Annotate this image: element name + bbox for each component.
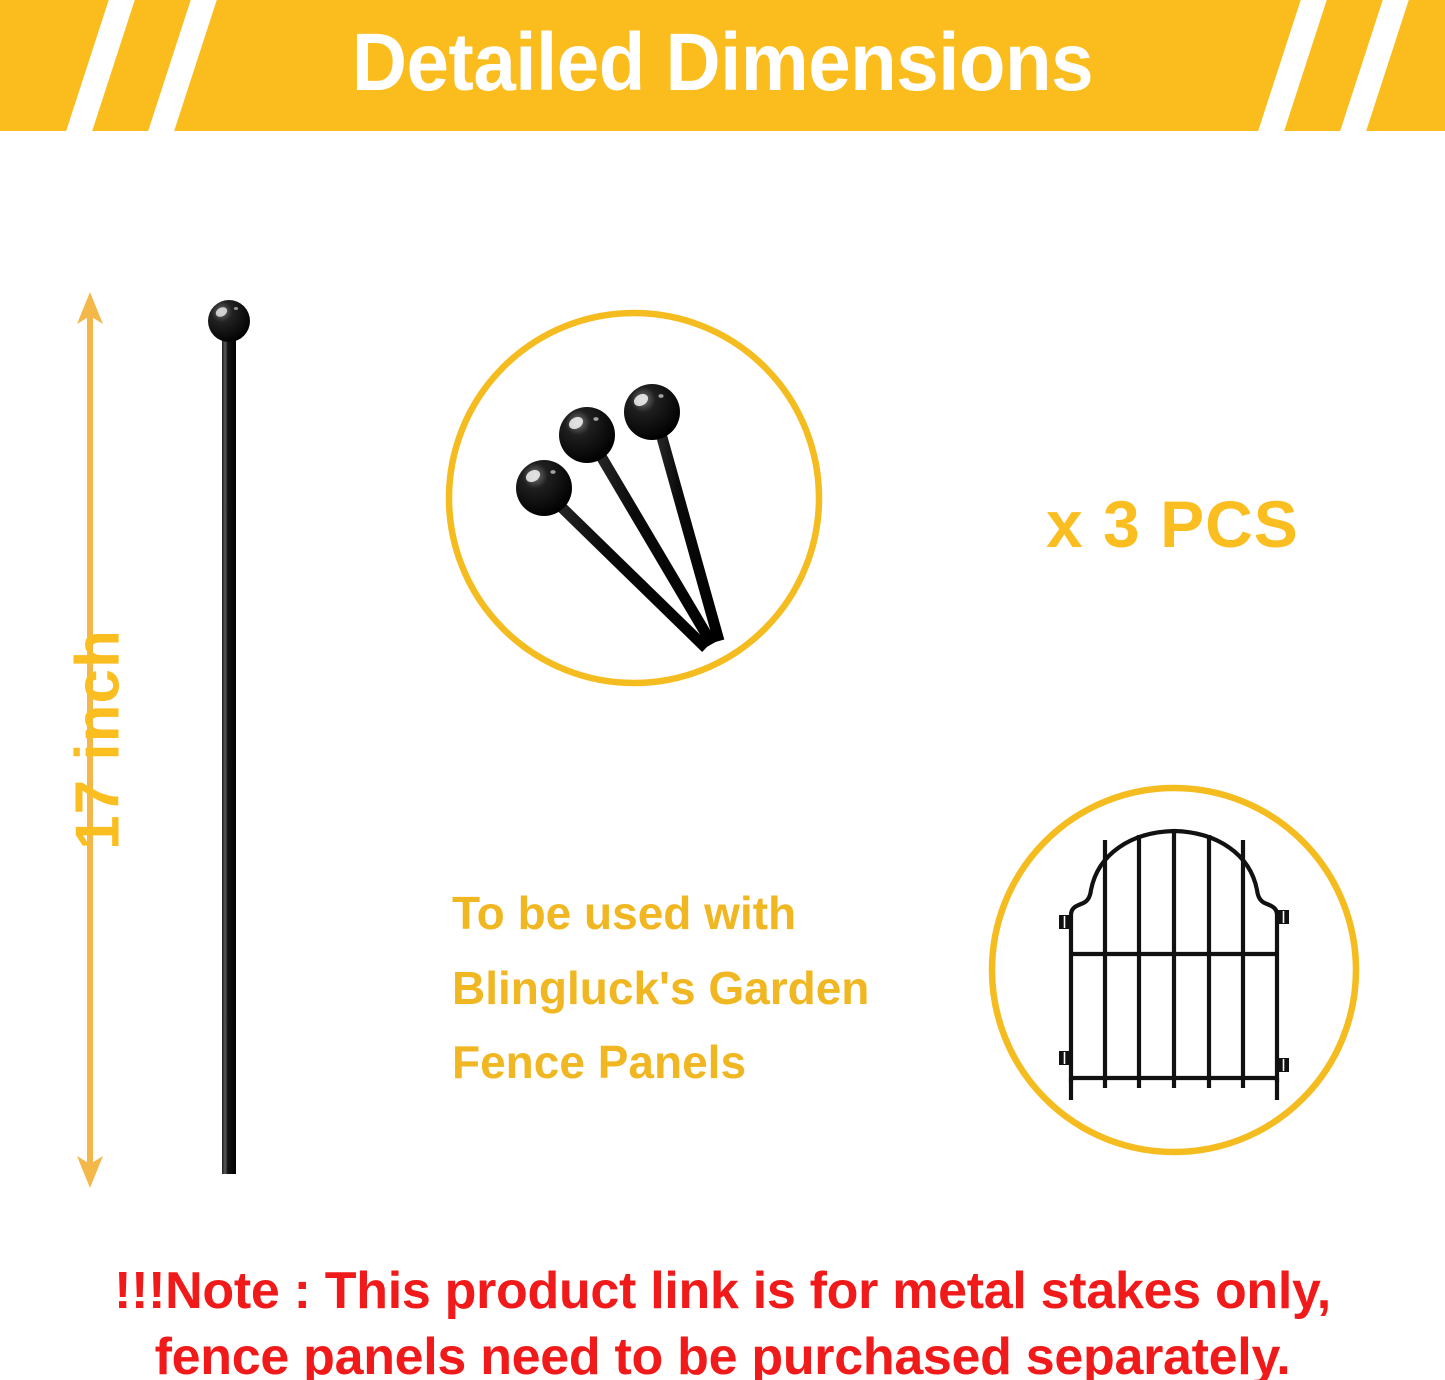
infographic-page: Detailed Dimensions 17 inch [0, 0, 1445, 1380]
usage-note-line-2: Blingluck's Garden [452, 951, 972, 1026]
usage-note-line-3: Fence Panels [452, 1025, 972, 1100]
quantity-label: x 3 PCS [1046, 486, 1299, 562]
measurement-label: 17 inch [63, 490, 134, 990]
usage-note-line-1: To be used with [452, 876, 972, 951]
bottom-note: !!!Note : This product link is for metal… [0, 1258, 1445, 1380]
three-stakes-circle [444, 308, 824, 688]
single-stake-illustration [190, 290, 270, 1190]
bottom-note-line-1: !!!Note : This product link is for metal… [0, 1258, 1445, 1324]
usage-note: To be used with Blingluck's Garden Fence… [452, 876, 972, 1100]
three-stakes-illustration [444, 308, 824, 688]
header-banner: Detailed Dimensions [0, 0, 1445, 131]
page-title: Detailed Dimensions [51, 0, 1395, 131]
measurement-group: 17 inch [60, 290, 360, 1190]
fence-panel-circle [986, 782, 1362, 1158]
bottom-note-line-2: fence panels need to be purchased separa… [0, 1324, 1445, 1380]
fence-panel-illustration [986, 782, 1362, 1158]
